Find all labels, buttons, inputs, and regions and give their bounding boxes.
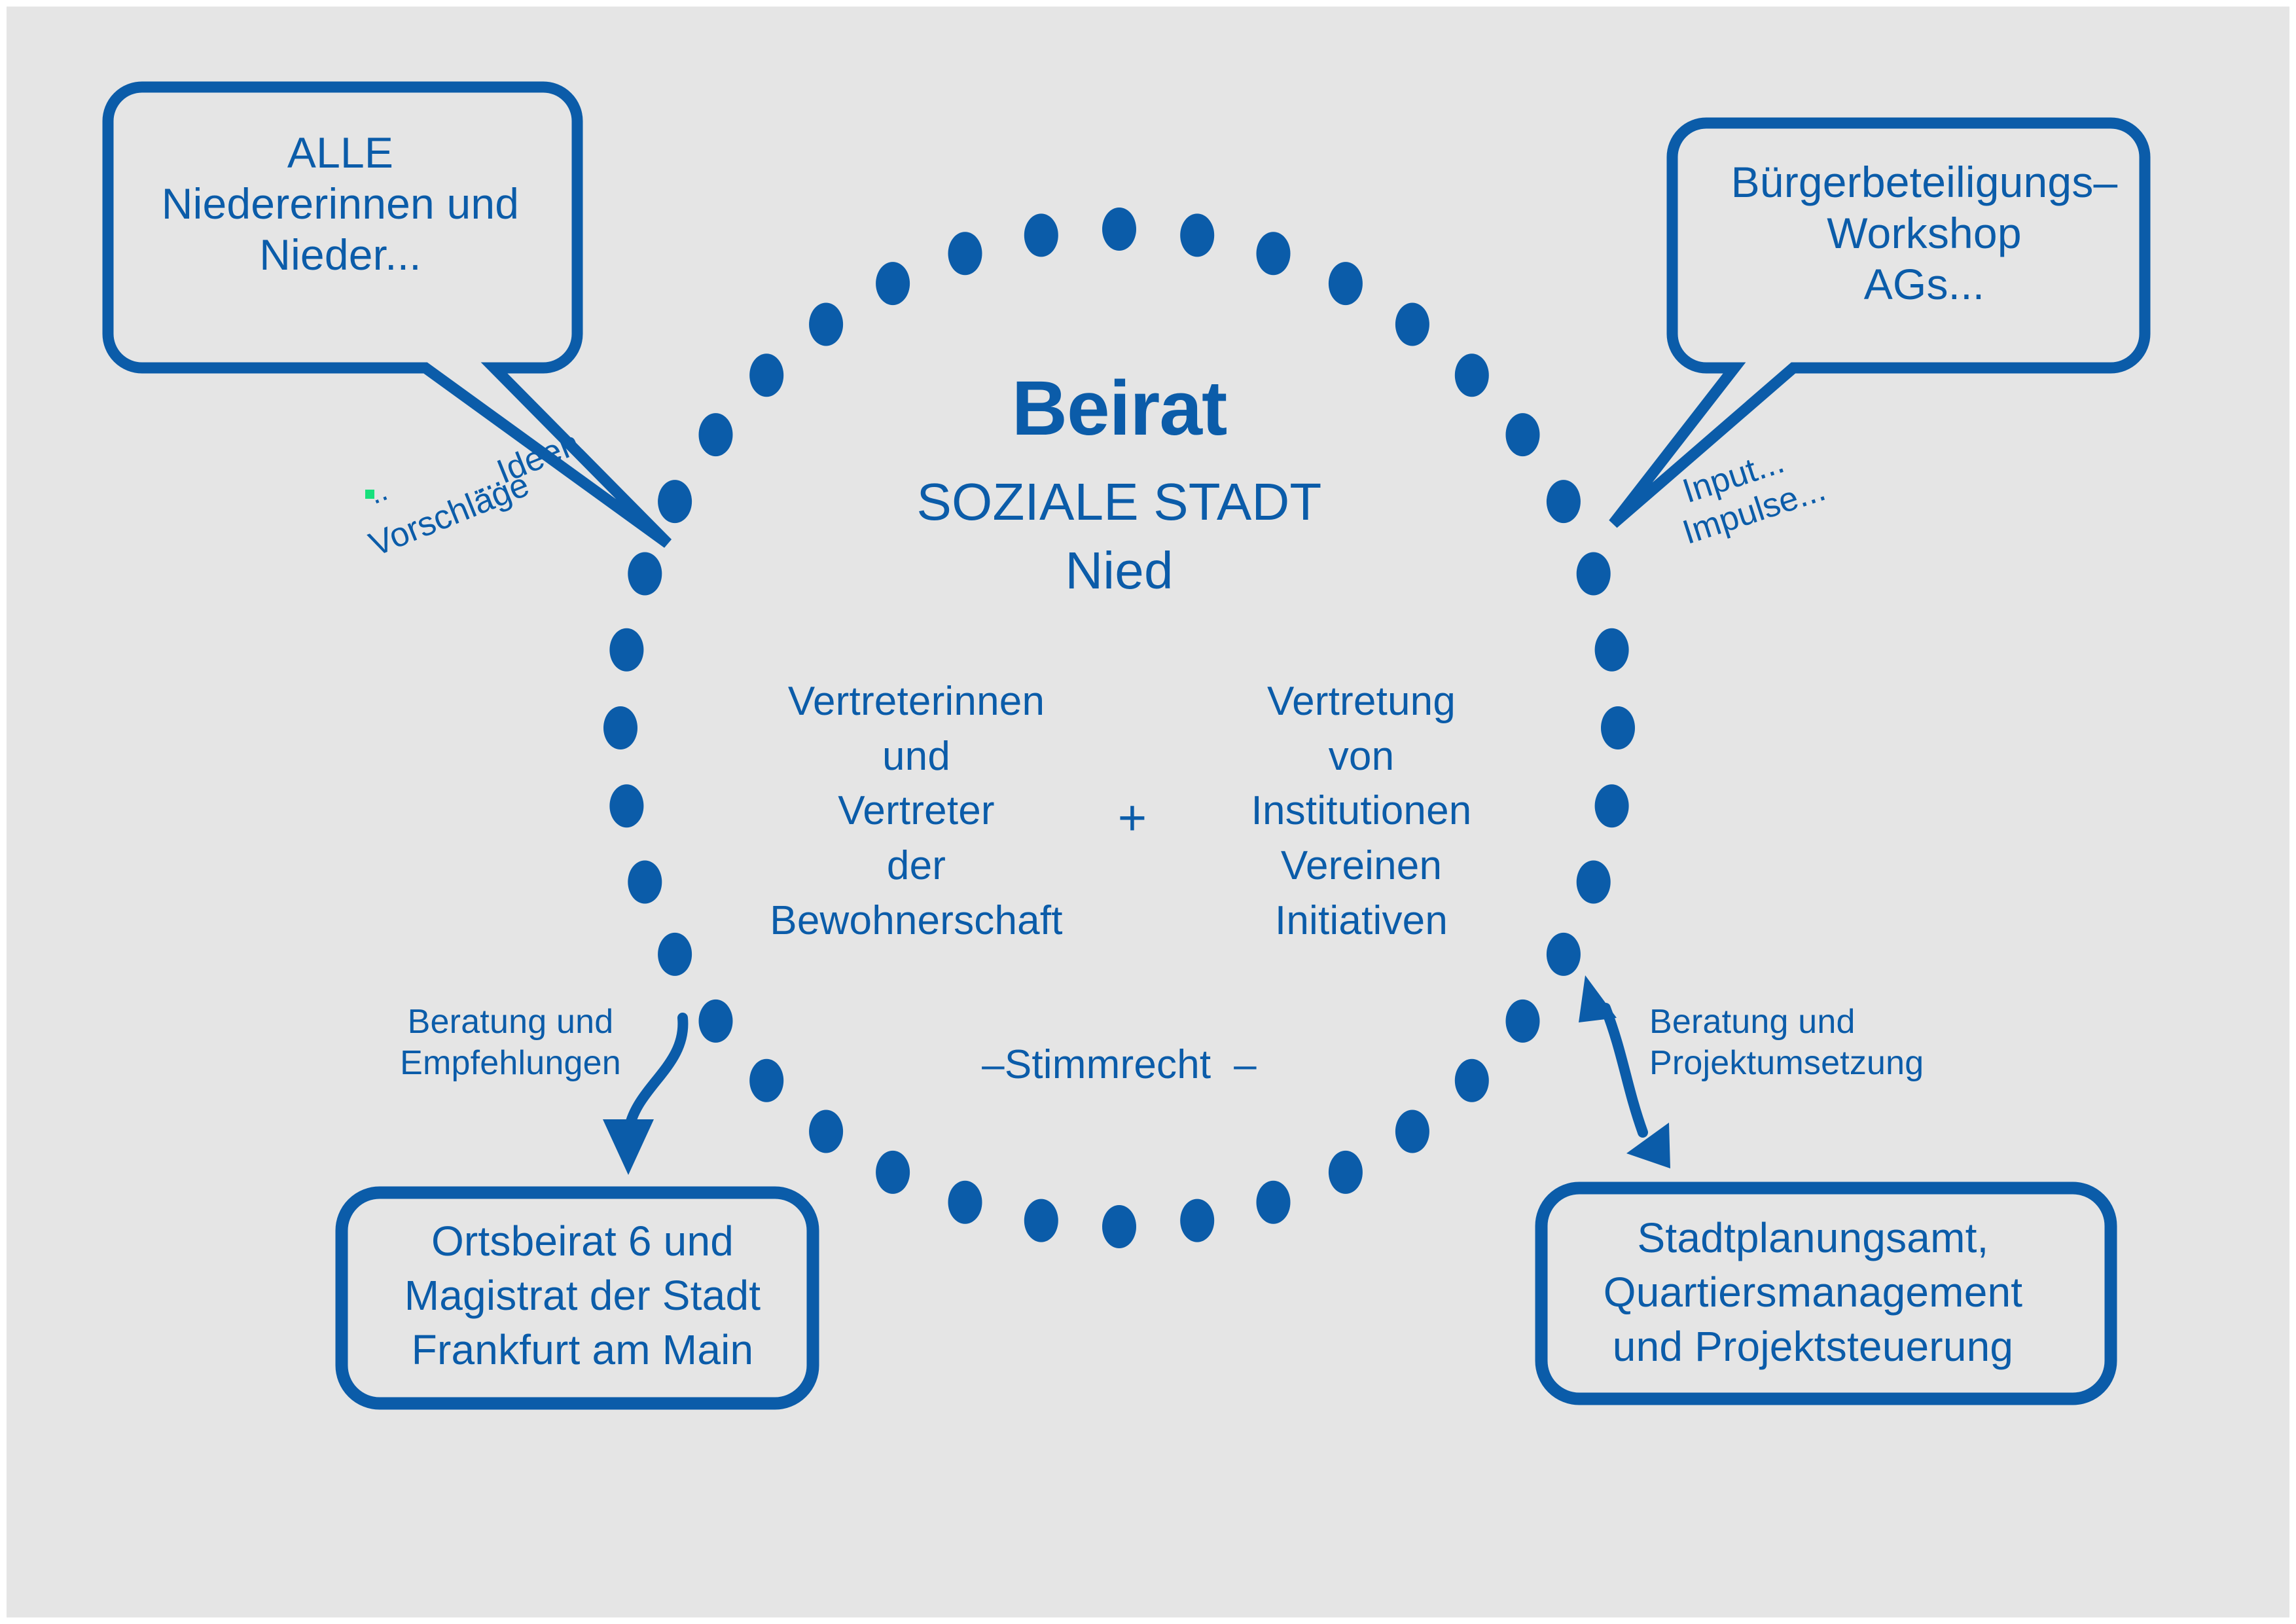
buergerbeteiligung-bubble-label: Bürgerbeteiligungs– Workshop AGs... (1682, 157, 2166, 310)
ring-dot (1601, 706, 1635, 749)
ring-dot (1024, 1199, 1058, 1242)
stimmrecht-label: –Stimmrecht – (910, 1041, 1329, 1089)
ring-dot (948, 232, 982, 275)
ring-dot (1577, 552, 1611, 596)
ring-dot (1595, 628, 1629, 672)
center-column-right: Vertretung von Institutionen Vereinen In… (1178, 674, 1545, 948)
ring-dot (1395, 1110, 1429, 1153)
center-subtitle-line1: SOZIALE STADT (779, 471, 1460, 533)
ring-dot (1506, 413, 1540, 456)
ring-dot (628, 861, 662, 904)
beratung-empfehlungen-label: Beratung und Empfehlungen (373, 1001, 648, 1085)
ring-dot (1329, 262, 1363, 305)
center-title: Beirat (779, 363, 1460, 454)
ring-dot (1102, 208, 1136, 251)
ring-dot (1547, 480, 1581, 523)
center-column-left: Vertreterinnen und Vertreter der Bewohne… (713, 674, 1119, 948)
ring-dot (699, 413, 733, 456)
ring-dot (876, 1151, 910, 1194)
ring-dot (749, 1059, 783, 1102)
alle-niederinnen-bubble-label: ALLE Niedererinnen und Nieder... (98, 128, 583, 281)
ring-dot (1180, 213, 1214, 257)
ring-dot (1547, 933, 1581, 976)
ring-dot (1506, 1000, 1540, 1043)
ring-dot (1257, 1181, 1291, 1224)
ring-dot (1577, 861, 1611, 904)
ring-dot (1595, 784, 1629, 827)
ring-dot (1395, 303, 1429, 346)
ring-dot (948, 1181, 982, 1224)
ring-dot (658, 480, 692, 523)
plus-sign: + (1093, 789, 1172, 848)
green-marker-dot (365, 490, 374, 499)
ring-dot (609, 628, 643, 672)
ring-dot (876, 262, 910, 305)
diagram-canvas: ALLE Niedererinnen und Nieder... Bürgerb… (0, 0, 2296, 1624)
ring-dot (1455, 353, 1489, 397)
stadtplanungsamt-box-label: Stadtplanungsamt, Quartiersmanagement un… (1538, 1211, 2088, 1375)
ring-dot (1329, 1151, 1363, 1194)
beratung-projektumsetzung-label: Beratung und Projektumsetzung (1649, 1001, 1990, 1085)
ring-dot (1102, 1205, 1136, 1248)
ortsbeirat-box-label: Ortsbeirat 6 und Magistrat der Stadt Fra… (334, 1214, 831, 1378)
ring-dot (603, 706, 637, 749)
ring-dot (809, 303, 843, 346)
ring-dot (1257, 232, 1291, 275)
ring-dot (1180, 1199, 1214, 1242)
ring-dot (1455, 1059, 1489, 1102)
ring-dot (699, 1000, 733, 1043)
ring-dot (658, 933, 692, 976)
ring-dot (809, 1110, 843, 1153)
center-subtitle-line2: Nied (779, 540, 1460, 602)
ring-dot (609, 784, 643, 827)
ring-dot (628, 552, 662, 596)
ring-dot (1024, 213, 1058, 257)
